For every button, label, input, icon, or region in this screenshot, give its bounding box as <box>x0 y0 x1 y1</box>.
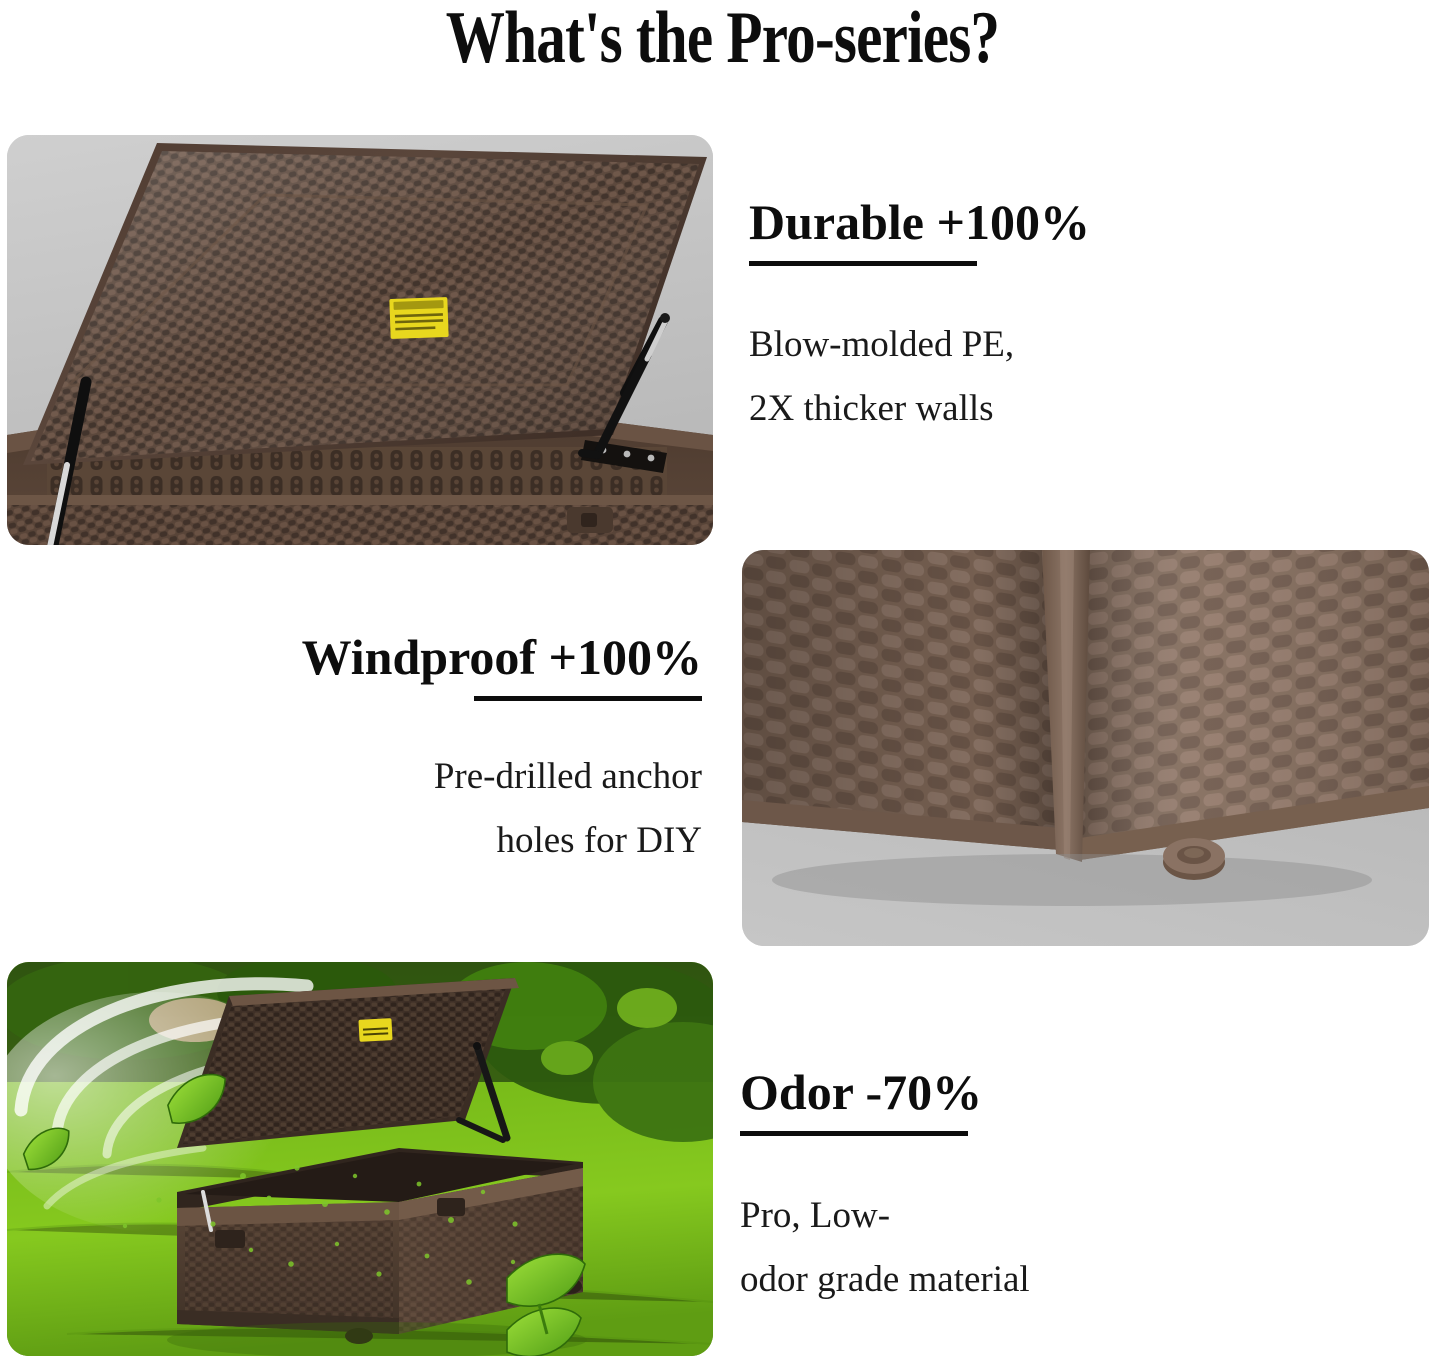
feature-durable-body: Blow-molded PE, 2X thicker walls <box>749 313 1090 441</box>
open-lid-illustration <box>7 135 713 545</box>
feature-durable-body-line-2: 2X thicker walls <box>749 377 1090 441</box>
lifestyle-illustration <box>7 962 713 1356</box>
anchor-hole-tab-icon <box>1163 838 1225 880</box>
image-open-lid-detail <box>7 135 713 545</box>
feature-windproof-rule <box>474 696 702 701</box>
page-title: What's the Pro-series? <box>145 0 1301 81</box>
feature-odor-heading: Odor -70% <box>740 1063 1030 1121</box>
feature-windproof-heading: Windproof +100% <box>302 628 702 686</box>
feature-durable-rule <box>749 261 977 266</box>
feature-durable-body-line-1: Blow-molded PE, <box>749 313 1090 377</box>
warning-label-icon <box>389 297 448 339</box>
image-lifestyle-airflow <box>7 962 713 1356</box>
corner-weave-illustration <box>742 550 1429 946</box>
feature-odor-body-line-2: odor grade material <box>740 1248 1030 1312</box>
feature-windproof-body: Pre-drilled anchor holes for DIY <box>302 745 702 873</box>
image-corner-weave-detail <box>742 550 1429 946</box>
warning-label-icon <box>358 1018 392 1042</box>
feature-windproof-body-line-2: holes for DIY <box>302 809 702 873</box>
feature-odor: Odor -70% Pro, Low- odor grade material <box>740 1063 1030 1312</box>
feature-durable-heading: Durable +100% <box>749 193 1090 251</box>
feature-windproof-body-line-1: Pre-drilled anchor <box>302 745 702 809</box>
feature-odor-rule <box>740 1131 968 1136</box>
feature-odor-body-line-1: Pro, Low- <box>740 1184 1030 1248</box>
feature-windproof: Windproof +100% Pre-drilled anchor holes… <box>302 628 702 873</box>
feature-odor-body: Pro, Low- odor grade material <box>740 1184 1030 1312</box>
feature-durable: Durable +100% Blow-molded PE, 2X thicker… <box>749 193 1090 441</box>
